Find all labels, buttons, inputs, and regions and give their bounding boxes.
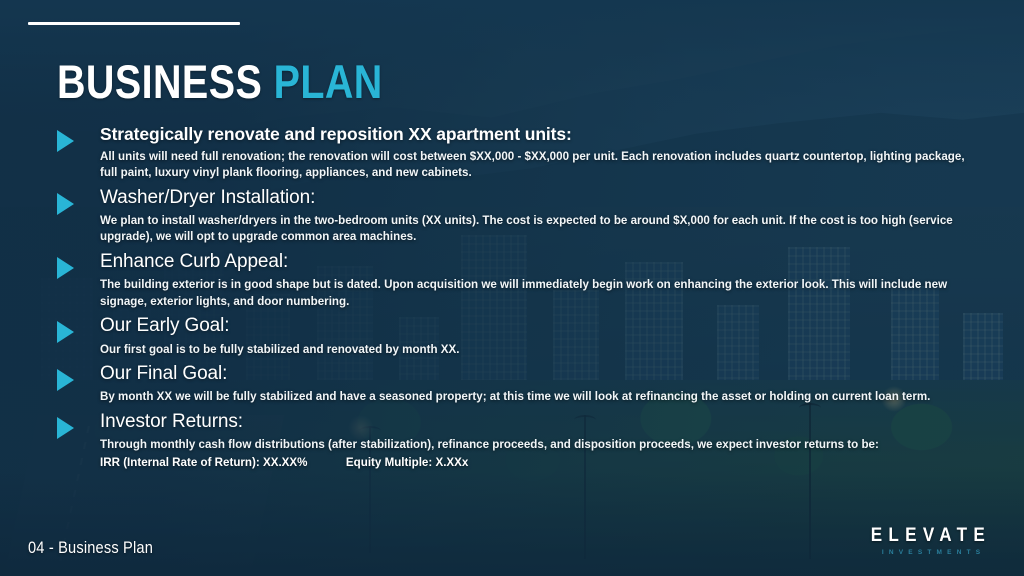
page-title: BUSINESS PLAN (57, 58, 383, 105)
section-strategically-renovate: Strategically renovate and reposition XX… (57, 124, 977, 182)
triangle-right-icon (57, 257, 74, 279)
section-body: The building exterior is in good shape b… (100, 277, 975, 310)
section-body: By month XX we will be fully stabilized … (100, 389, 975, 405)
triangle-right-icon (57, 193, 74, 215)
title-rule (28, 22, 240, 25)
triangle-right-icon (57, 417, 74, 439)
section-body: All units will need full renovation; the… (100, 149, 975, 182)
section-body: We plan to install washer/dryers in the … (100, 213, 975, 246)
logo-tagline: INVESTMENTS (864, 549, 1003, 556)
slide-footer-label: 04 - Business Plan (28, 538, 153, 558)
triangle-right-icon (57, 321, 74, 343)
irr-label: IRR (Internal Rate of Return): (100, 456, 260, 469)
section-heading: Enhance Curb Appeal: (100, 251, 977, 273)
section-heading: Investor Returns: (100, 411, 977, 433)
section-heading: Our Final Goal: (100, 363, 977, 385)
presentation-slide: BUSINESS PLAN Strategically renovate and… (0, 0, 1024, 576)
bullet-sections: Strategically renovate and reposition XX… (57, 124, 977, 474)
equity-multiple-value: X.XXx (435, 456, 468, 469)
section-body: Our first goal is to be fully stabilized… (100, 342, 975, 358)
section-enhance-curb-appeal: Enhance Curb Appeal: The building exteri… (57, 251, 977, 310)
section-investor-returns: Investor Returns: Through monthly cash f… (57, 411, 977, 469)
equity-multiple-label: Equity Multiple: (346, 456, 432, 469)
title-accent: PLAN (274, 55, 383, 108)
irr-value: XX.XX% (263, 456, 307, 469)
investor-returns-metrics: IRR (Internal Rate of Return): XX.XX% Eq… (100, 456, 977, 469)
brand-logo: ELEVATE INVESTMENTS (864, 525, 998, 556)
section-body: Through monthly cash flow distributions … (100, 437, 975, 453)
section-heading: Washer/Dryer Installation: (100, 187, 977, 209)
section-heading: Our Early Goal: (100, 315, 977, 337)
title-main: BUSINESS (57, 55, 262, 108)
logo-name: ELEVATE (871, 525, 991, 547)
section-washer-dryer-installation: Washer/Dryer Installation: We plan to in… (57, 187, 977, 246)
section-our-final-goal: Our Final Goal: By month XX we will be f… (57, 363, 977, 406)
triangle-right-icon (57, 369, 74, 391)
section-heading: Strategically renovate and reposition XX… (100, 124, 977, 145)
triangle-right-icon (57, 130, 74, 152)
slide-content: BUSINESS PLAN Strategically renovate and… (0, 0, 1024, 576)
section-our-early-goal: Our Early Goal: Our first goal is to be … (57, 315, 977, 358)
